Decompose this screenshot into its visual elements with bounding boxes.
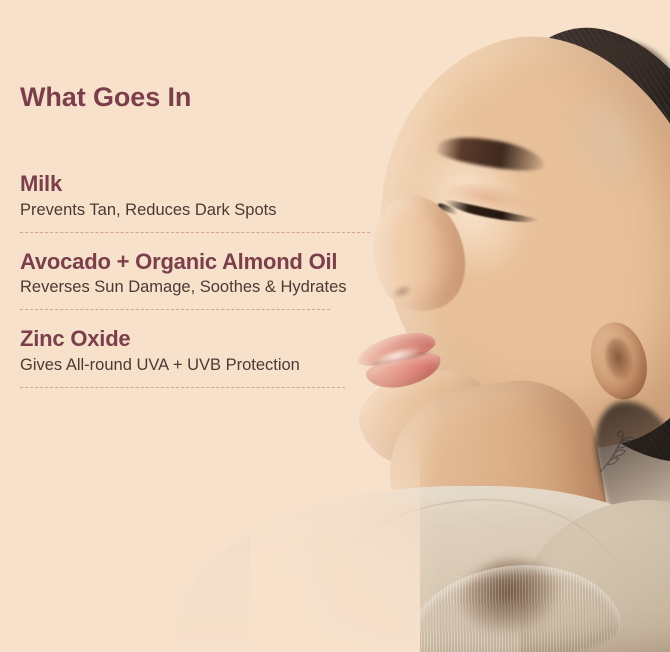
ingredient-name: Milk [20,172,380,196]
ingredient-list: Milk Prevents Tan, Reduces Dark Spots Av… [20,172,380,405]
list-item: Avocado + Organic Almond Oil Reverses Su… [20,250,380,311]
ingredient-description: Reverses Sun Damage, Soothes & Hydrates [20,278,380,297]
divider [20,232,370,233]
divider [20,387,345,388]
ingredient-name: Zinc Oxide [20,327,380,351]
divider [20,309,330,310]
ingredient-description: Prevents Tan, Reduces Dark Spots [20,201,380,220]
page-title: What Goes In [20,82,191,113]
ingredient-name: Avocado + Organic Almond Oil [20,250,380,274]
content-panel: What Goes In Milk Prevents Tan, Reduces … [0,0,400,652]
list-item: Milk Prevents Tan, Reduces Dark Spots [20,172,380,233]
ingredients-banner: What Goes In Milk Prevents Tan, Reduces … [0,0,670,652]
ingredient-description: Gives All-round UVA + UVB Protection [20,356,380,375]
list-item: Zinc Oxide Gives All-round UVA + UVB Pro… [20,327,380,388]
